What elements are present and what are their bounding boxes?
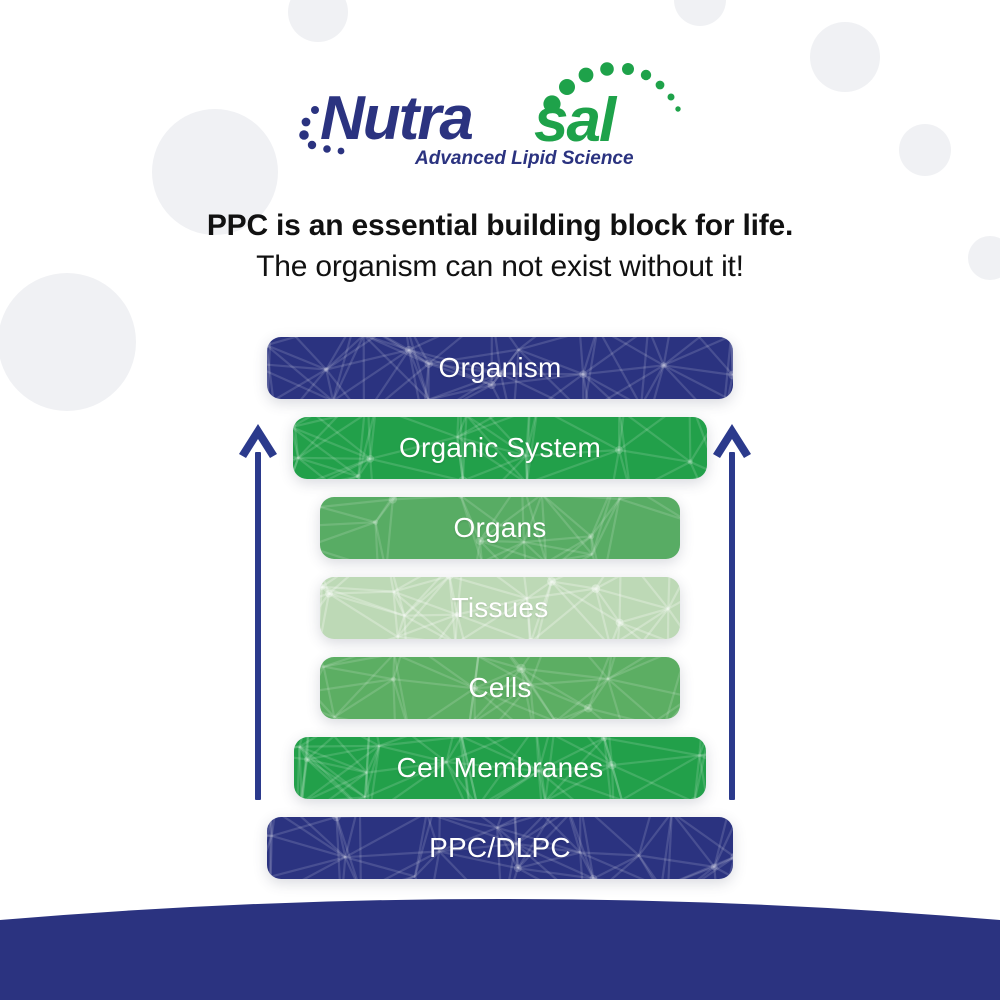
pyramid-level-cells[interactable]: Cells — [320, 657, 680, 719]
pyramid-level-label: Cell Membranes — [397, 752, 604, 784]
pyramid-level-organs[interactable]: Organs — [320, 497, 680, 559]
brand-logo: Nutra sal Advanced Lipid Science — [0, 42, 1000, 172]
pyramid-stack: OrganismOrganic SystemOrgansTissuesCells… — [0, 337, 1000, 877]
pyramid-level-label: PPC/DLPC — [429, 832, 571, 864]
logo-wordmark-nutra: Nutra — [320, 84, 472, 153]
pyramid-level-organic-system[interactable]: Organic System — [293, 417, 707, 479]
background-circle — [674, 0, 726, 26]
footer-curve-path — [0, 899, 1000, 1000]
logo-tagline: Advanced Lipid Science — [414, 148, 634, 169]
pyramid-level-label: Tissues — [452, 592, 549, 624]
pyramid-level-label: Organs — [453, 512, 546, 544]
pyramid-level-label: Organism — [439, 352, 562, 384]
pyramid-level-label: Cells — [468, 672, 531, 704]
headline-line-1: PPC is an essential building block for l… — [0, 206, 1000, 246]
nutrasal-logo-svg: Nutra sal Advanced Lipid Science — [290, 42, 710, 172]
pyramid-level-ppc-dlpc[interactable]: PPC/DLPC — [267, 817, 733, 879]
arrow-up-right — [710, 422, 754, 802]
headline-block: PPC is an essential building block for l… — [0, 206, 1000, 288]
headline-line-2: The organism can not exist without it! — [0, 246, 1000, 288]
logo-wordmark-sal: sal — [534, 86, 618, 155]
pyramid-level-organism[interactable]: Organism — [267, 337, 733, 399]
pyramid-level-label: Organic System — [399, 432, 601, 464]
footer-curve — [0, 880, 1000, 1000]
arrow-up-left — [236, 422, 280, 802]
pyramid-level-tissues[interactable]: Tissues — [320, 577, 680, 639]
background-circle — [288, 0, 348, 42]
infographic-canvas: Nutra sal Advanced Lipid Science PPC is … — [0, 0, 1000, 1000]
pyramid-level-cell-membranes[interactable]: Cell Membranes — [294, 737, 706, 799]
